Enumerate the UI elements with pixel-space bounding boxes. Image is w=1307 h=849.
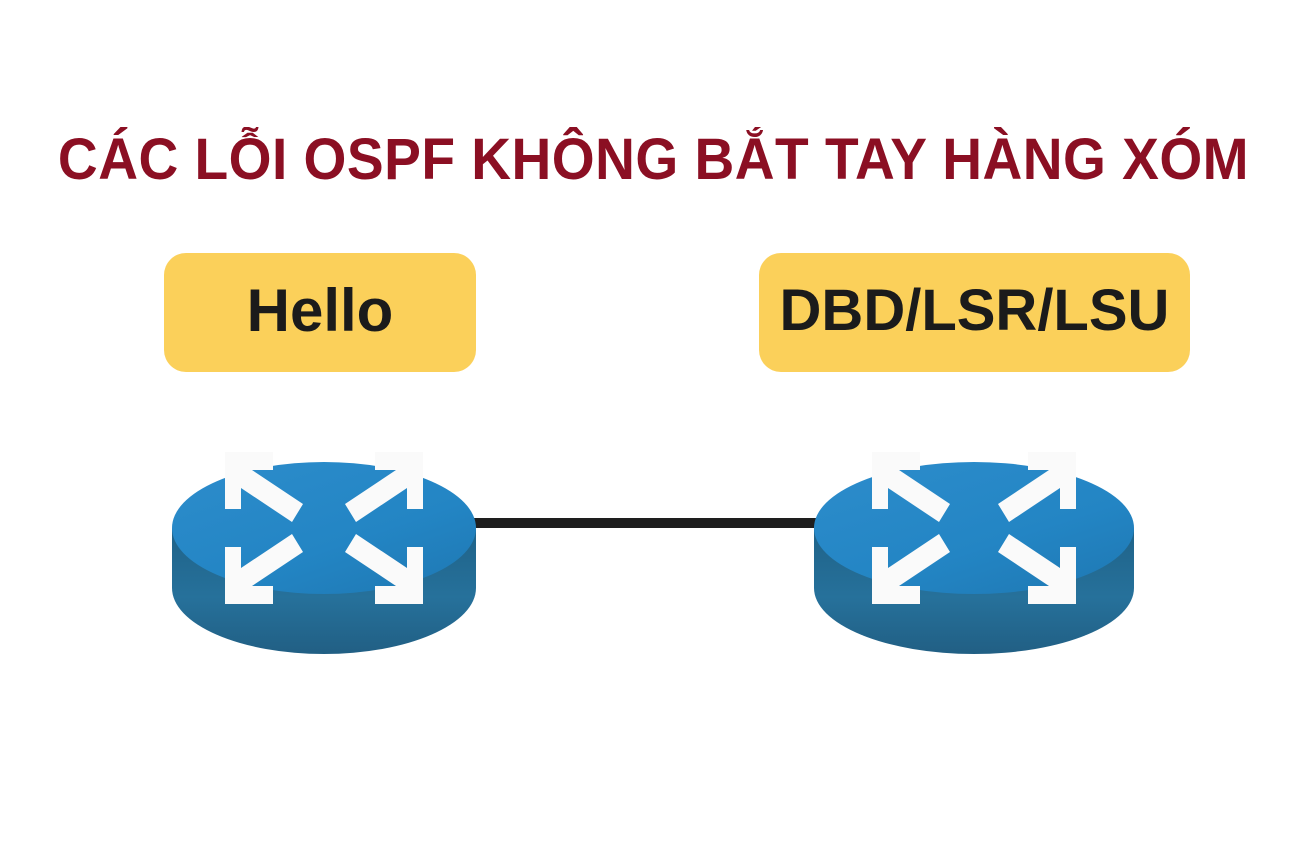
router-icon-left xyxy=(168,410,480,660)
label-chip-dbd-lsr-lsu-text: DBD/LSR/LSU xyxy=(780,282,1170,340)
network-link-line xyxy=(455,518,855,528)
router-icon xyxy=(168,410,480,660)
diagram-canvas: CÁC LỖI OSPF KHÔNG BẮT TAY HÀNG XÓM Hell… xyxy=(0,0,1307,849)
label-chip-hello-text: Hello xyxy=(247,281,394,341)
router-icon-right xyxy=(810,410,1138,660)
router-icon xyxy=(810,410,1138,660)
label-chip-dbd-lsr-lsu: DBD/LSR/LSU xyxy=(759,253,1190,372)
page-title: CÁC LỖI OSPF KHÔNG BẮT TAY HÀNG XÓM xyxy=(33,128,1275,192)
label-chip-hello: Hello xyxy=(164,253,476,372)
